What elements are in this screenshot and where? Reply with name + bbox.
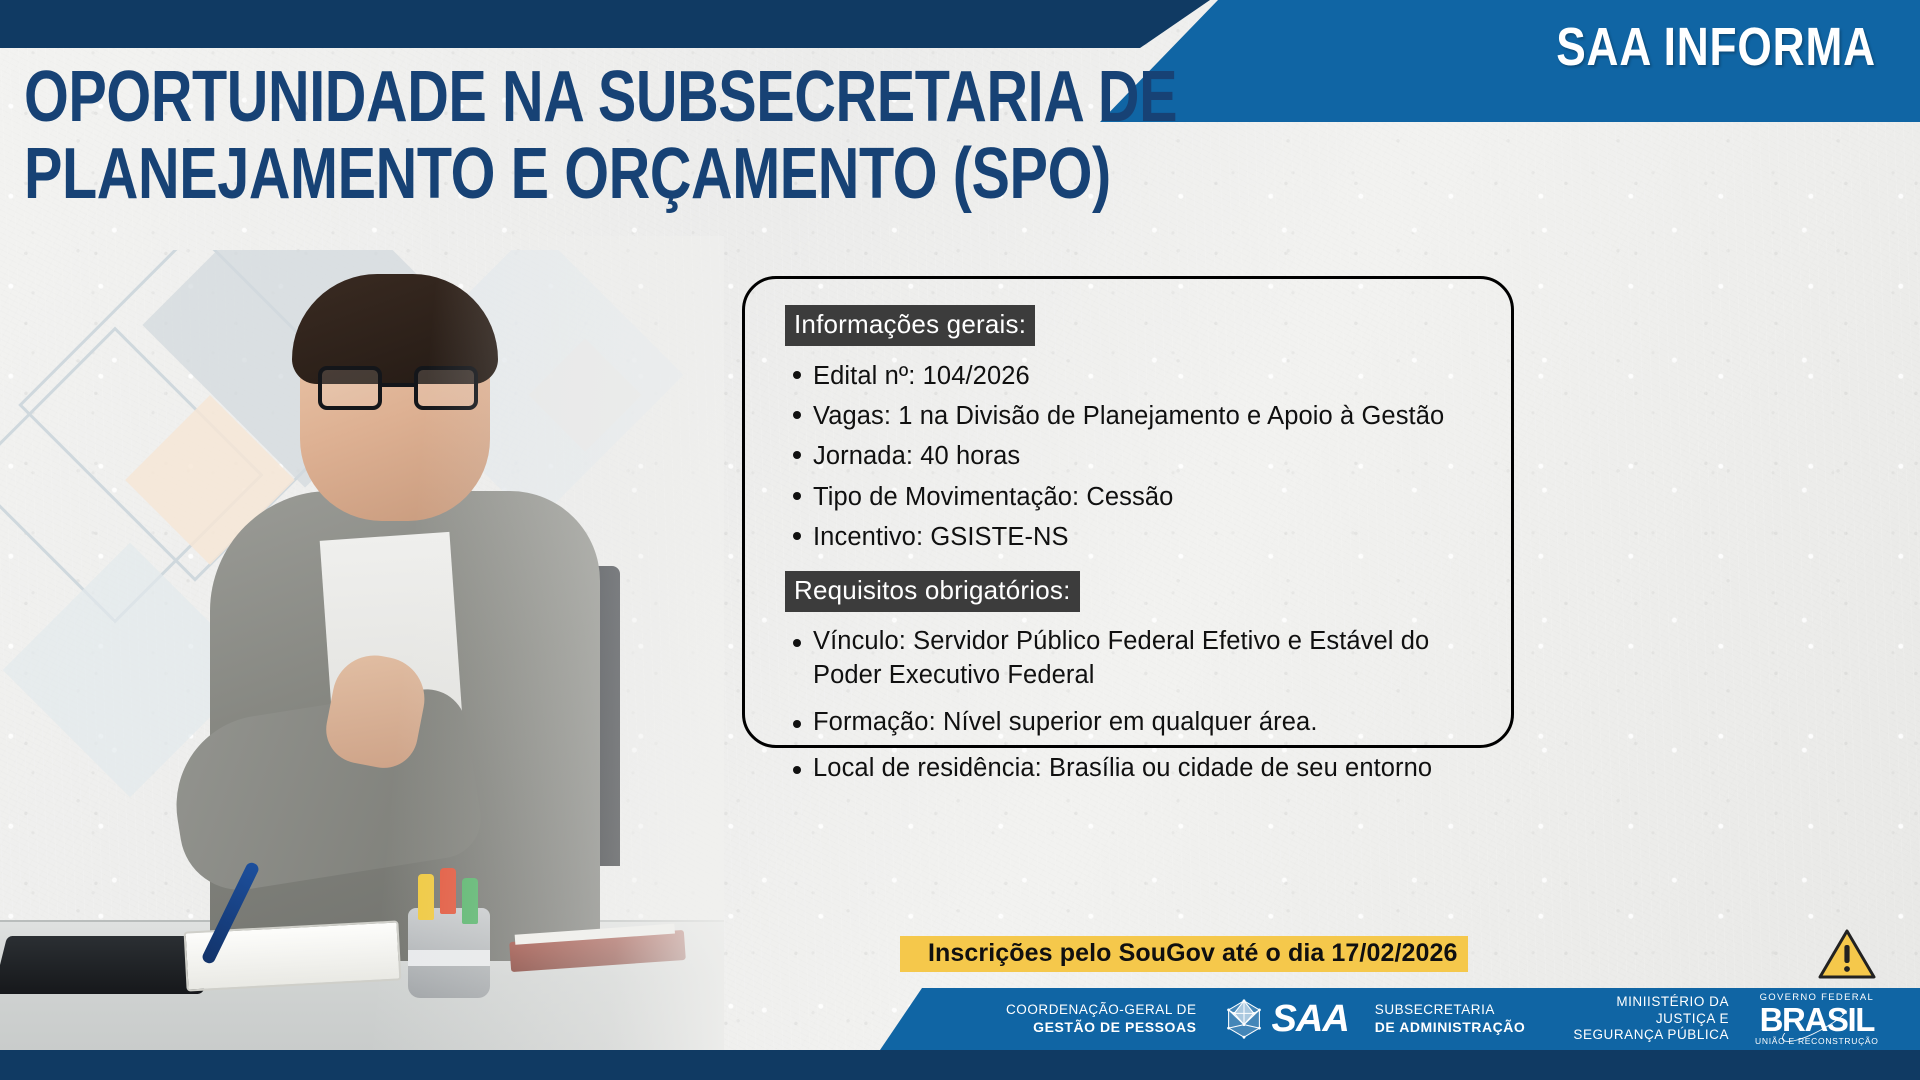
photo-fade-mask [0,236,724,1080]
saa-logo: SAA [1223,998,1349,1041]
cggp-line-2: GESTÃO DE PESSOAS [1006,1019,1197,1036]
top-navy-bar [0,0,1210,48]
footer-navy-bar-left [0,1050,724,1080]
list-item: Jornada: 40 horas [787,436,1487,476]
cggp-line-1: COORDENAÇÃO-GERAL DE [1006,1002,1197,1018]
subsecretaria-line-1: SUBSECRETARIA [1375,1002,1526,1018]
list-item: Formação: Nível superior em qualquer áre… [787,705,1487,739]
photo-man-at-desk [0,236,724,1080]
brasil-wordmark: BRASIL [1760,1003,1874,1036]
list-item: Local de residência: Brasília ou cidade … [787,751,1487,785]
list-item: Vínculo: Servidor Público Federal Efetiv… [787,624,1487,693]
saa-informa-badge: SAA INFORMA [1556,16,1876,78]
ministry-line-1: MINIISTÉRIO DA [1573,994,1729,1010]
uniao-reconstrucao-label: UNIÃO E RECONSTRUÇÃO [1755,1037,1879,1046]
info-card: Informações gerais: Edital nº: 104/2026 … [742,276,1514,748]
ministry-line-3: SEGURANÇA PÚBLICA [1573,1027,1729,1043]
saa-polyhedron-icon [1223,998,1265,1040]
poster-canvas: SAA INFORMA OPORTUNIDADE NA SUBSECRETARI… [0,0,1920,1080]
subsecretaria-line-2: DE ADMINISTRAÇÃO [1375,1019,1526,1036]
registration-cta: Inscrições pelo SouGov até o dia 17/02/2… [900,936,1468,970]
cta-text: Inscrições pelo SouGov até o dia 17/02/2… [900,936,1468,972]
page-title-line-2: PLANEJAMENTO E ORÇAMENTO (SPO) [24,141,904,208]
list-item: Edital nº: 104/2026 [787,356,1487,396]
cggp-logo-text: COORDENAÇÃO-GERAL DE GESTÃO DE PESSOAS [1006,1002,1197,1036]
general-info-list: Edital nº: 104/2026 Vagas: 1 na Divisão … [787,356,1487,557]
footer-logos-row: COORDENAÇÃO-GERAL DE GESTÃO DE PESSOAS [880,988,1920,1050]
section-label-general: Informações gerais: [785,305,1035,346]
warning-triangle-icon [1818,928,1876,980]
brasil-wordmark-text: BRASIL [1760,1001,1874,1038]
governo-federal-logo: GOVERNO FEDERAL BRASIL UNIÃO E RECONSTRU… [1755,993,1879,1046]
page-title-line-1: OPORTUNIDADE NA SUBSECRETARIA DE [24,64,904,131]
section-label-requirements: Requisitos obrigatórios: [785,571,1080,612]
page-title: OPORTUNIDADE NA SUBSECRETARIA DE PLANEJA… [24,64,904,208]
list-item: Incentivo: GSISTE-NS [787,517,1487,557]
ministry-logo-text: MINIISTÉRIO DA JUSTIÇA E SEGURANÇA PÚBLI… [1573,994,1729,1043]
subsecretaria-logo-text: SUBSECRETARIA DE ADMINISTRAÇÃO [1375,1002,1526,1036]
footer-navy-bar [724,1050,1920,1080]
list-item: Tipo de Movimentação: Cessão [787,477,1487,517]
saa-wordmark: SAA [1272,998,1349,1041]
list-item: Vagas: 1 na Divisão de Planejamento e Ap… [787,396,1487,436]
requirements-list: Vínculo: Servidor Público Federal Efetiv… [787,624,1487,786]
ministry-line-2: JUSTIÇA E [1573,1011,1729,1027]
